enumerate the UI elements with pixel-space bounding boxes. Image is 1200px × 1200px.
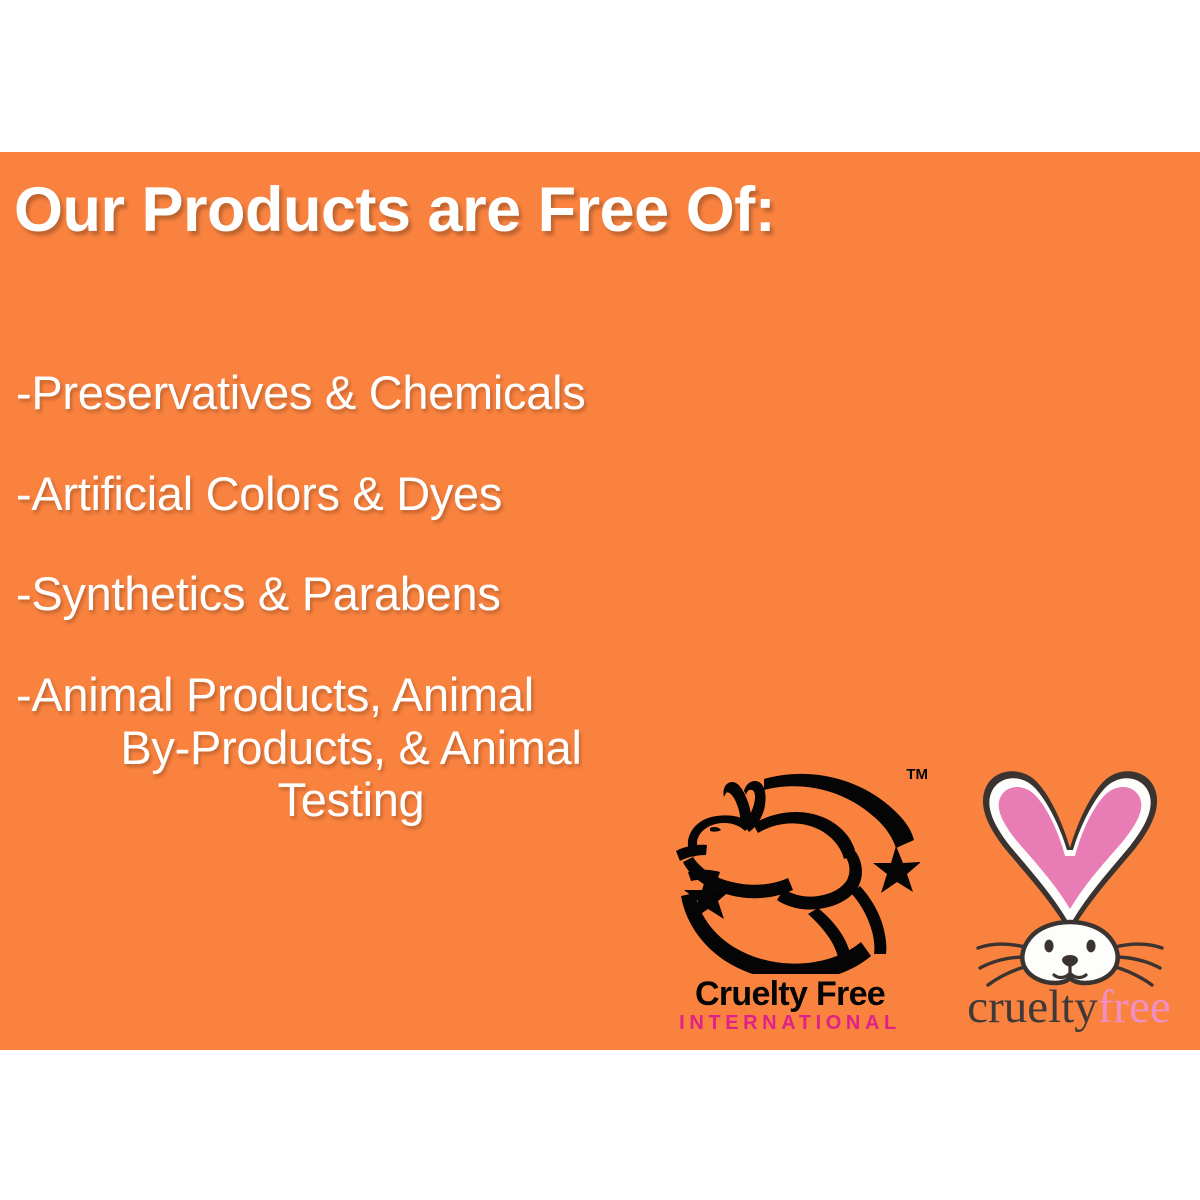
list-item: -Artificial Colors & Dyes xyxy=(16,468,686,521)
pcf-name-secondary: free xyxy=(1098,981,1171,1033)
list-item-line-3: Testing xyxy=(16,774,686,827)
poster-canvas: Our Products are Free Of: -Preservatives… xyxy=(0,0,1200,1200)
pcf-name-primary: cruelty xyxy=(967,981,1098,1033)
free-of-list: -Preservatives & Chemicals -Artificial C… xyxy=(16,367,686,827)
pcf-wordmark: crueltyfree xyxy=(938,984,1200,1031)
list-item-line-2: By-Products, & Animal xyxy=(16,722,686,775)
certification-logos: TM Cruelty Free INTERNATIONAL xyxy=(660,762,1200,1050)
cfi-name-primary: Cruelty Free xyxy=(660,977,920,1011)
list-item: -Preservatives & Chemicals xyxy=(16,367,686,420)
trademark-icon: TM xyxy=(906,766,928,783)
list-item: -Synthetics & Parabens xyxy=(16,568,686,621)
orange-panel: Our Products are Free Of: -Preservatives… xyxy=(0,152,1200,1050)
leaping-rabbit-icon xyxy=(660,762,920,974)
cruelty-free-international-logo: TM Cruelty Free INTERNATIONAL xyxy=(660,762,920,1050)
cfi-wordmark: Cruelty Free INTERNATIONAL xyxy=(660,977,920,1036)
cfi-name-secondary: INTERNATIONAL xyxy=(660,1011,920,1036)
page-title: Our Products are Free Of: xyxy=(14,174,775,246)
bunny-heart-ears-icon xyxy=(948,762,1193,990)
list-item-line-1: -Animal Products, Animal xyxy=(16,669,686,722)
list-item: -Animal Products, Animal By-Products, & … xyxy=(16,669,686,827)
cruelty-free-bunny-logo: crueltyfree xyxy=(938,762,1200,1050)
